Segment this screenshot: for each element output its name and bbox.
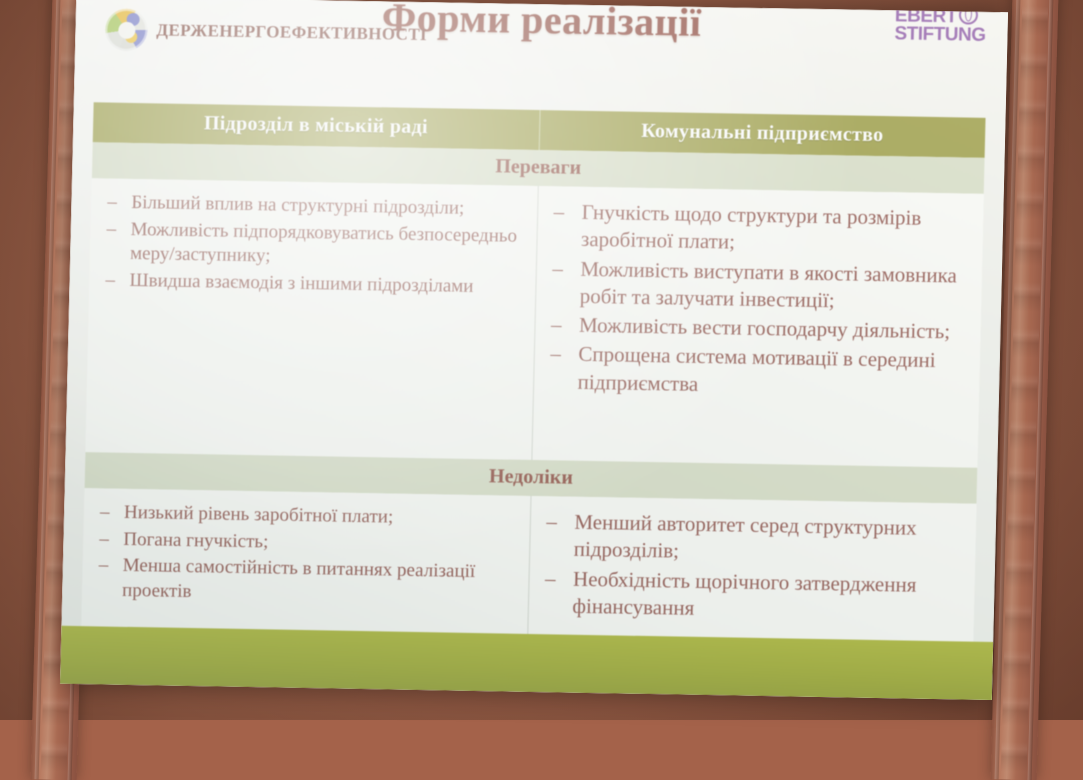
projection-screen: Держенергоефективності EBERT STIFTUNG Фо… — [60, 0, 1008, 700]
disadvantages-left-cell: Низький рівень заробітної плати; Погана … — [81, 488, 530, 637]
disadvantages-right-list: Менший авторитет серед структурних підро… — [542, 508, 962, 626]
ebert-logo-line2: STIFTUNG — [894, 23, 985, 46]
disadvantages-left-list: Низький рівень заробітної плати; Погана … — [96, 500, 516, 610]
column-header-municipal-department: Підрозділ в міській раді — [93, 102, 539, 150]
section-disadvantages: Недоліки Низький рівень заробітної плати… — [81, 452, 977, 645]
list-item: Можливість підпорядковуватись безпосеред… — [104, 217, 523, 274]
table-row: Низький рівень заробітної плати; Погана … — [81, 488, 976, 645]
logo-yellow-dot-icon — [125, 31, 137, 43]
list-item: Спрощена система мотивації в середині пі… — [547, 341, 966, 403]
derzhenergoefektyvnosti-logo-icon — [105, 8, 148, 51]
list-item: Швидша взаємодія з іншими підрозділами — [103, 269, 521, 301]
advantages-left-list: Більший вплив на структурні підрозділи; … — [103, 191, 523, 301]
list-item: Гнучкість щодо структури та розмірів зар… — [551, 198, 970, 260]
list-item: Менший авторитет серед структурних підро… — [543, 508, 962, 570]
list-item: Менша самостійність в питаннях реалізаці… — [96, 554, 515, 611]
column-header-communal-enterprise: Комунальні підприємство — [538, 110, 985, 158]
presentation-slide: Держенергоефективності EBERT STIFTUNG Фо… — [60, 0, 1008, 700]
advantages-right-list: Гнучкість щодо структури та розмірів зар… — [547, 198, 969, 402]
disadvantages-right-cell: Менший авторитет серед структурних підро… — [527, 496, 977, 645]
section-advantages: Переваги Більший вплив на структурні під… — [85, 142, 984, 467]
organization-branding: Держенергоефективності — [105, 8, 428, 56]
table-row: Більший вплив на структурні підрозділи; … — [85, 178, 983, 467]
advantages-left-cell: Більший вплив на структурні підрозділи; … — [85, 178, 537, 460]
list-item: Можливість виступати в якості замовника … — [549, 255, 968, 317]
comparison-table: Підрозділ в міській раді Комунальні підп… — [81, 102, 985, 645]
slide-header: Держенергоефективності EBERT STIFTUNG Фо… — [74, 0, 1008, 104]
list-item: Необхідність щорічного затвердження фіна… — [542, 565, 961, 627]
advantages-right-cell: Гнучкість щодо структури та розмірів зар… — [531, 186, 984, 468]
logo-blue-dot-icon — [126, 13, 139, 26]
list-item: Можливість вести господарчу діяльність; — [549, 311, 967, 346]
organization-name: Держенергоефективності — [156, 20, 427, 45]
